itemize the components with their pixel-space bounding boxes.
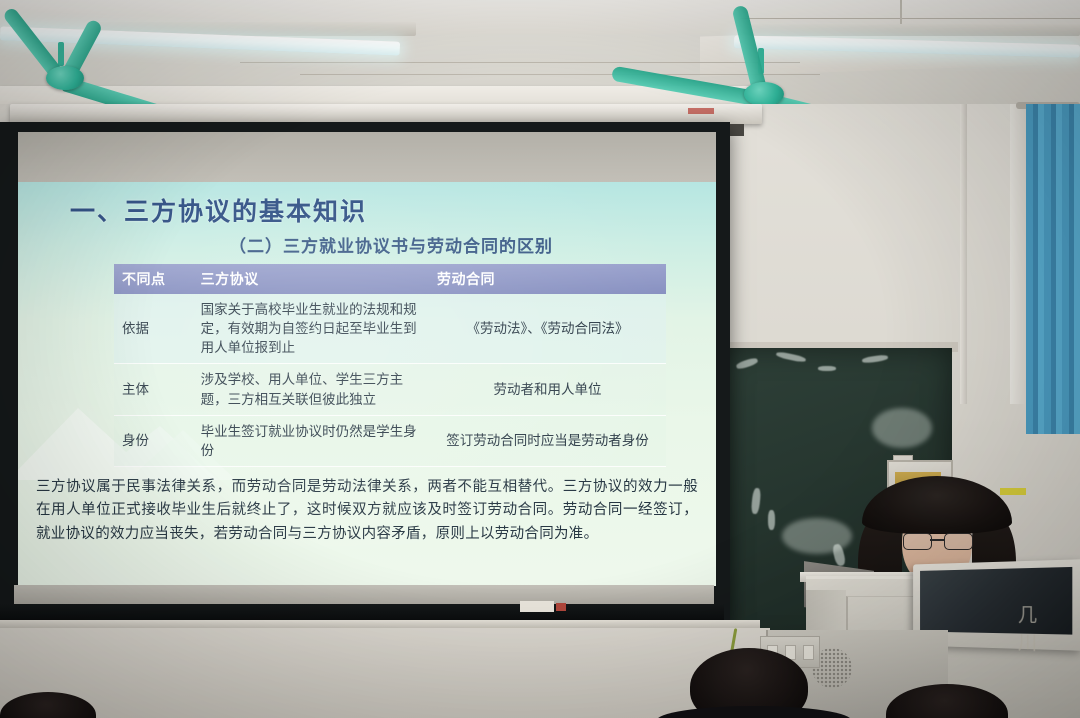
classroom-photo: 一、三方协议的基本知识 （二）三方就业协议书与劳动合同的区别 不同点 三方协议 … — [0, 0, 1080, 718]
projection-screen-case — [10, 104, 762, 124]
window-curtain[interactable] — [1026, 104, 1080, 434]
table-cell-labor: 签订劳动合同时应当是劳动者身份 — [429, 415, 666, 466]
table-row: 身份 毕业生签订就业协议时仍然是学生身份 签订劳动合同时应当是劳动者身份 — [114, 415, 666, 466]
table-cell-key: 依据 — [114, 294, 193, 364]
table-cell-key: 身份 — [114, 415, 193, 466]
wall-conduit-pipe — [960, 104, 967, 404]
slide-body-paragraph: 三方协议属于民事法律关系，而劳动合同是劳动法律关系，两者不能互相替代。三方协议的… — [36, 476, 698, 546]
table-cell-labor: 劳动者和用人单位 — [429, 364, 666, 415]
table-row: 主体 涉及学校、用人单位、学生三方主题，三方相互关联但彼此独立 劳动者和用人单位 — [114, 364, 666, 415]
comparison-table: 不同点 三方协议 劳动合同 依据 国家关于高校毕业生就业的法规和规定，有效期为自… — [114, 264, 666, 467]
table-header-row: 不同点 三方协议 劳动合同 — [114, 264, 666, 294]
table-header-cell: 不同点 — [114, 264, 193, 294]
screen-weight-bar — [0, 604, 724, 620]
presenter-hair-top — [862, 476, 1012, 534]
screen-case-label — [688, 108, 714, 114]
screen-tag — [520, 601, 554, 612]
table-cell-tripartite: 毕业生签订就业协议时仍然是学生身份 — [193, 415, 429, 466]
projected-slide: 一、三方协议的基本知识 （二）三方就业协议书与劳动合同的区别 不同点 三方协议 … — [18, 182, 716, 586]
table-cell-key: 主体 — [114, 364, 193, 415]
lower-wall — [0, 628, 770, 718]
table-cell-tripartite: 国家关于高校毕业生就业的法规和规定，有效期为自签约日起至毕业生到用人单位报到止 — [193, 294, 429, 364]
table-row: 依据 国家关于高校毕业生就业的法规和规定，有效期为自签约日起至毕业生到用人单位报… — [114, 294, 666, 364]
screen-tag-red — [556, 603, 566, 611]
monitor-glyph: 几 川 — [1018, 600, 1064, 627]
slide-title: 一、三方协议的基本知识 — [70, 192, 367, 228]
ceiling-seam — [740, 18, 1080, 19]
glasses-icon — [903, 533, 971, 549]
table-cell-labor: 《劳动法》、《劳动合同法》 — [429, 294, 666, 364]
light-housing — [740, 24, 1080, 36]
screen-blank-top-band — [18, 132, 716, 184]
table-header-cell: 劳动合同 — [429, 264, 666, 294]
table-cell-tripartite: 涉及学校、用人单位、学生三方主题，三方相互关联但彼此独立 — [193, 364, 429, 415]
table-header-cell: 三方协议 — [193, 264, 429, 294]
slide-subtitle: （二）三方就业协议书与劳动合同的区别 — [18, 232, 716, 257]
screen-mount-bracket — [728, 124, 744, 136]
